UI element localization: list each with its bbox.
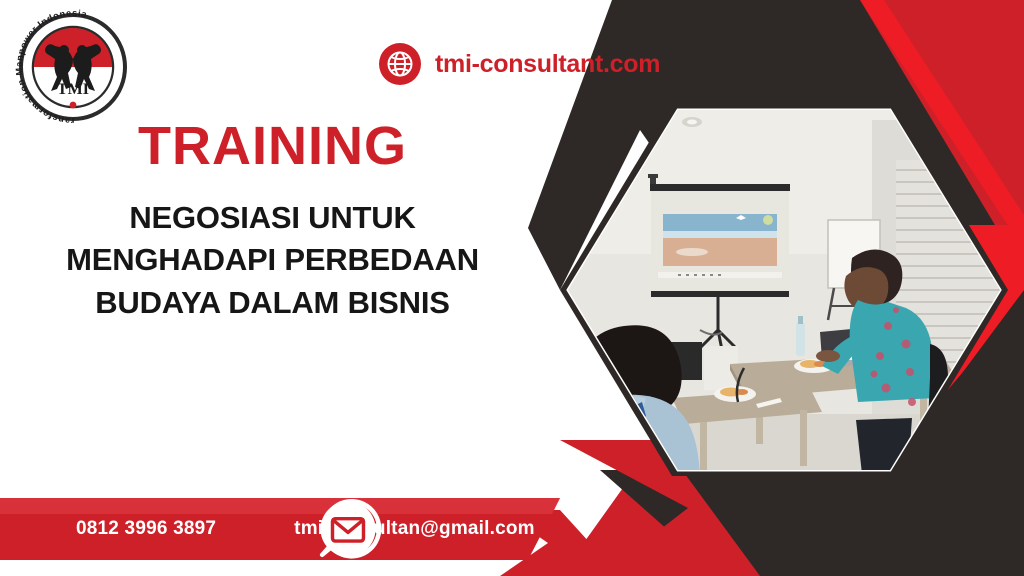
subtitle-line-1: NEGOSIASI UNTUK <box>0 197 545 240</box>
subtitle-line-3: BUDAYA DALAM BISNIS <box>0 282 545 325</box>
contact-footer-bar: 0812 3996 3897 tmi.konsultan@gmail.com <box>0 498 640 560</box>
website-row[interactable]: tmi-consultant.com <box>378 42 660 86</box>
plate-left <box>714 386 756 402</box>
contact-list: 0812 3996 3897 tmi.konsultan@gmail.com <box>28 498 535 560</box>
promotional-banner: TMI Transformation Manpower Indonesia <box>0 0 1024 576</box>
email-icon <box>246 511 282 547</box>
tmi-logo: TMI Transformation Manpower Indonesia <box>14 8 132 126</box>
logo-center-text: TMI <box>57 81 89 98</box>
contact-email[interactable]: tmi.konsultan@gmail.com <box>246 511 535 547</box>
subtitle-block: NEGOSIASI UNTUK MENGHADAPI PERBEDAAN BUD… <box>0 197 545 325</box>
headline-block: TRAINING NEGOSIASI UNTUK MENGHADAPI PERB… <box>0 118 545 325</box>
logo-dot <box>70 102 77 109</box>
website-url[interactable]: tmi-consultant.com <box>435 50 660 79</box>
globe-icon <box>378 42 422 86</box>
page-title: TRAINING <box>0 118 545 175</box>
subtitle-line-2: MENGHADAPI PERBEDAAN <box>0 239 545 282</box>
